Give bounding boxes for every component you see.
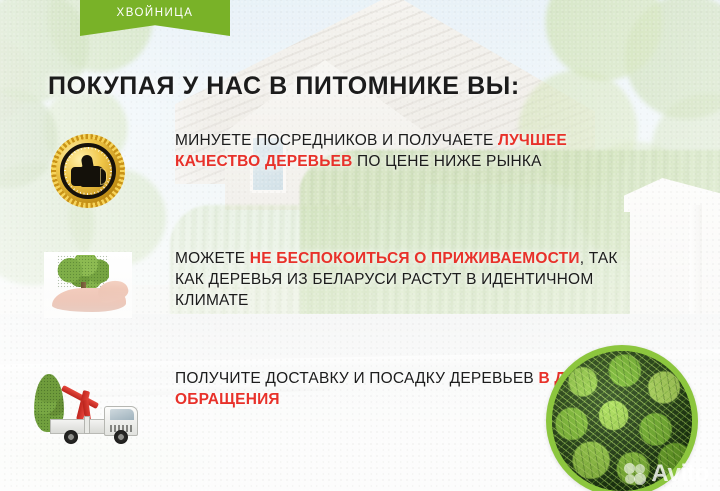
benefit-3-text-before: ПОЛУЧИТЕ ДОСТАВКУ И ПОСАДКУ ДЕРЕВЬЕВ — [175, 370, 538, 387]
promo-banner: ХВОЙНИЦА ПОКУПАЯ У НАС В ПИТОМНИКЕ ВЫ: — [0, 0, 720, 491]
avito-wordmark: Avito — [651, 463, 709, 485]
icon-fade — [44, 252, 132, 318]
avito-watermark: Avito — [624, 463, 709, 485]
avito-dot-top-left — [624, 463, 635, 474]
crane-truck-tree-icon — [32, 372, 144, 450]
list-item: МИНУЕТЕ ПОСРЕДНИКОВ И ПОЛУЧАЕТЕ ЛУЧШЕЕ К… — [0, 130, 720, 208]
benefit-2-highlight: НЕ БЕСПОКОИТЬСЯ О ПРИЖИВАЕМОСТИ — [250, 250, 580, 267]
benefit-text-1: МИНУЕТЕ ПОСРЕДНИКОВ И ПОЛУЧАЕТЕ ЛУЧШЕЕ К… — [175, 130, 645, 208]
benefit-icon-slot-3 — [0, 368, 175, 450]
benefit-1-text-after: ПО ЦЕНЕ НИЖЕ РЫНКА — [352, 153, 541, 170]
truck-windshield — [110, 409, 134, 420]
truck-wheel-rear — [64, 430, 78, 444]
truck-bed — [50, 419, 106, 434]
brand-tag-label: ХВОЙНИЦА — [117, 0, 194, 19]
avito-dot-bottom-right — [634, 473, 646, 485]
avito-logo-icon — [624, 463, 646, 485]
truck-wheel-front — [114, 430, 128, 444]
gold-medal-thumbs-up-icon — [51, 134, 125, 208]
benefit-1-text-before: МИНУЕТЕ ПОСРЕДНИКОВ И ПОЛУЧАЕТЕ — [175, 132, 498, 149]
benefit-text-2: МОЖЕТЕ НЕ БЕСПОКОИТЬСЯ О ПРИЖИВАЕМОСТИ, … — [175, 248, 645, 318]
thumb-fist — [80, 166, 105, 187]
list-item: МОЖЕТЕ НЕ БЕСПОКОИТЬСЯ О ПРИЖИВАЕМОСТИ, … — [0, 248, 720, 318]
benefit-2-text-before: МОЖЕТЕ — [175, 250, 250, 267]
benefit-icon-slot-2 — [0, 248, 175, 318]
crane-base-post — [84, 416, 90, 434]
hand-holding-tree-icon — [44, 252, 132, 318]
benefit-icon-slot-1 — [0, 130, 175, 208]
thumbs-up-icon — [71, 155, 105, 187]
page-title: ПОКУПАЯ У НАС В ПИТОМНИКЕ ВЫ: — [48, 72, 520, 101]
